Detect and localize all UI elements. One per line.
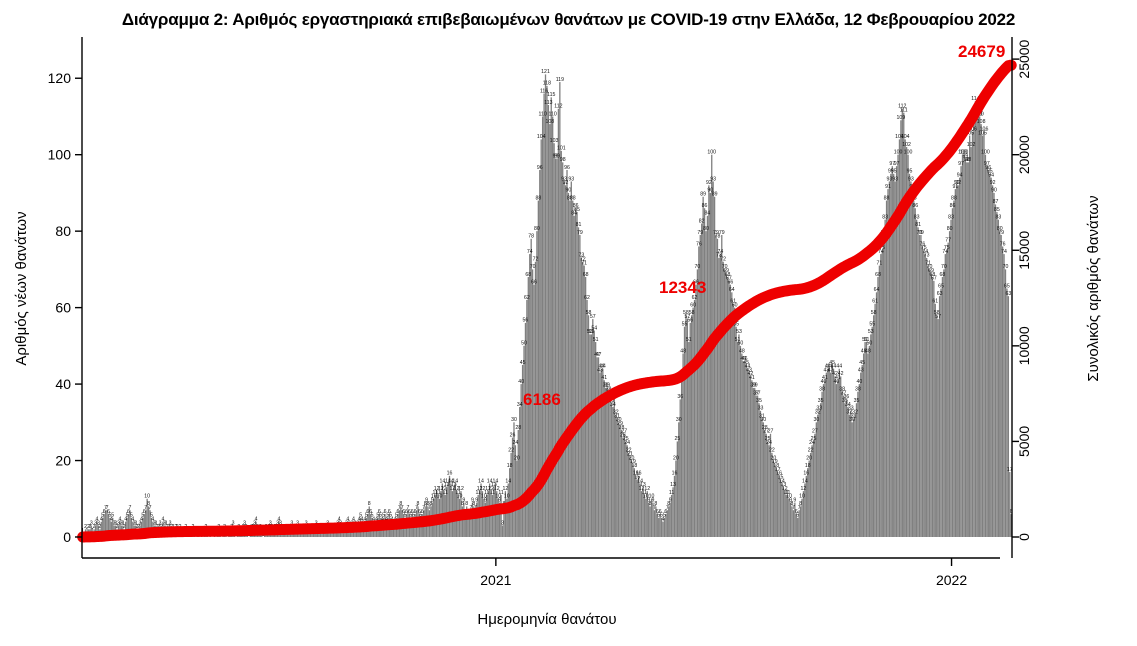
annotation-24679: 24679 (958, 42, 1005, 62)
annotation-layer: 6186 12343 24679 (0, 0, 1137, 646)
annotation-6186: 6186 (523, 390, 561, 410)
chart-container: Διάγραμμα 2: Αριθμός εργαστηριακά επιβεβ… (0, 0, 1137, 646)
annotation-12343: 12343 (659, 278, 706, 298)
